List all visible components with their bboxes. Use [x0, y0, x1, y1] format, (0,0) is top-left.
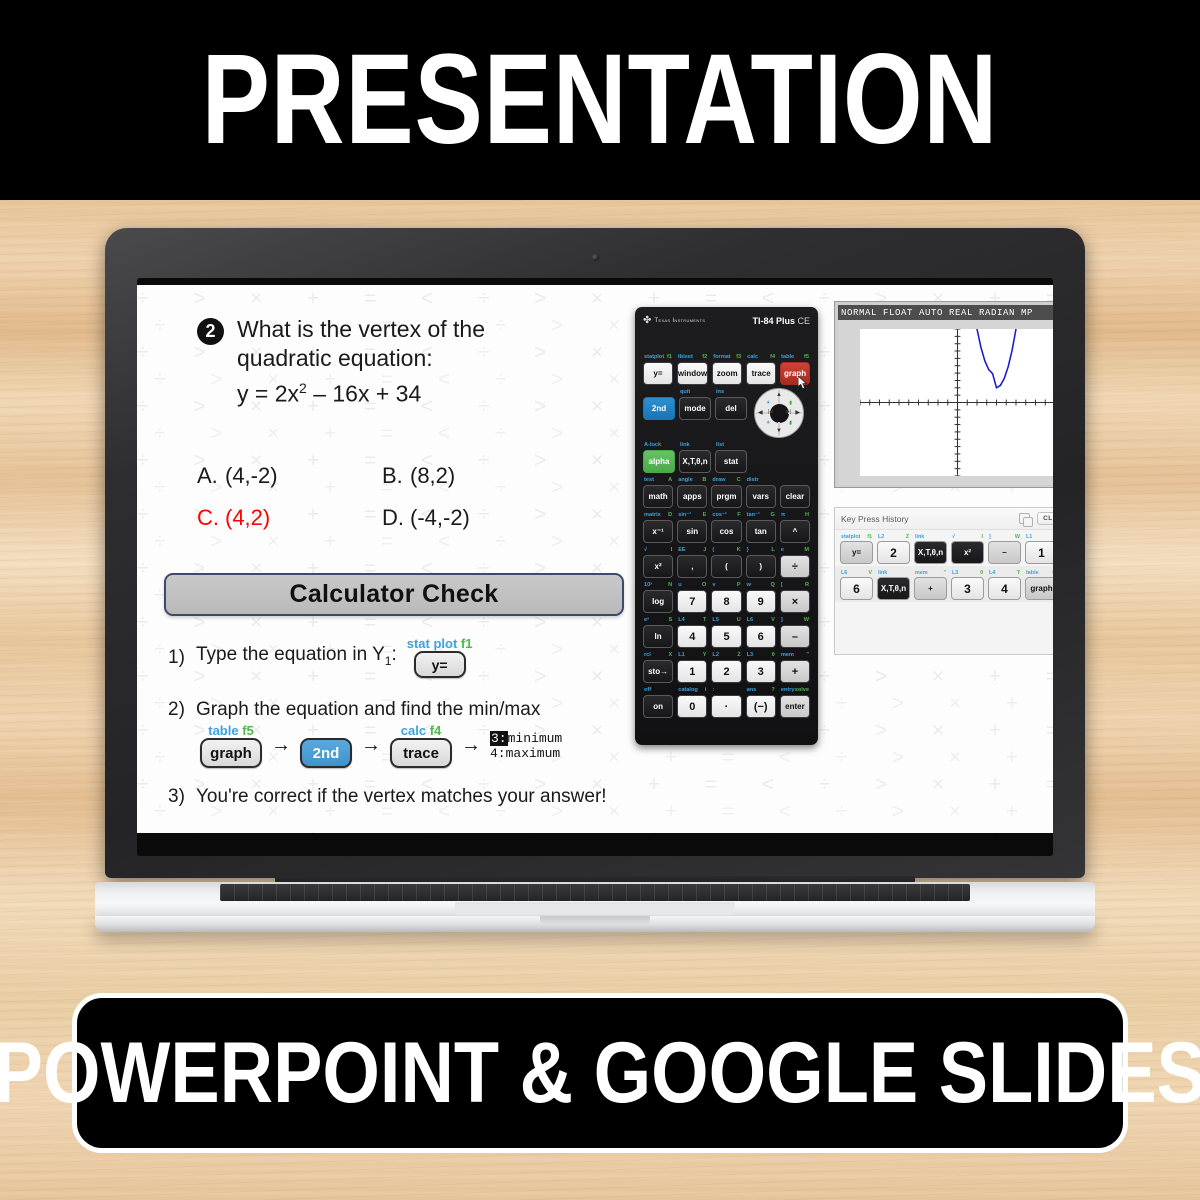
- calculator-key-1[interactable]: 1: [677, 660, 707, 683]
- key-secondary-labels: catalogi: [677, 686, 707, 695]
- calculator-key-cell: eˣSln: [643, 616, 673, 648]
- calculator-key-[interactable]: ,: [677, 555, 707, 578]
- sequence-arrow-1: →: [271, 735, 291, 757]
- calculator-key-cell: testAmath: [643, 476, 673, 508]
- calculator-key-cell: liststat: [715, 441, 747, 473]
- calculator-key-x[interactable]: x²: [643, 555, 673, 578]
- history-key-3[interactable]: 3: [951, 577, 984, 600]
- calculator-key-trace[interactable]: trace: [746, 362, 776, 385]
- calculator-key-y[interactable]: y=: [643, 362, 673, 385]
- key-second-label: [: [781, 581, 783, 590]
- step-2-graph-key[interactable]: graph: [200, 738, 262, 768]
- dpad-up-arrow-icon[interactable]: ▲: [776, 392, 782, 398]
- key-second-label: ans: [747, 686, 757, 695]
- calculator-key-0[interactable]: 0: [677, 695, 707, 718]
- history-alpha-label: ": [943, 569, 946, 577]
- key-second-label: sin⁻¹: [678, 511, 691, 520]
- key-alpha-label: H: [805, 511, 809, 520]
- key-alpha-label: C: [737, 476, 741, 485]
- top-banner: PRESENTATION: [0, 0, 1200, 200]
- calculator-key-cell: angleBapps: [677, 476, 707, 508]
- history-key-[interactable]: +: [914, 577, 947, 600]
- graph-status-bar: NORMAL FLOAT AUTO REAL RADIAN MP: [838, 305, 1053, 320]
- key-alpha-label: f4: [770, 353, 775, 362]
- history-row: L6V6linkX,T,θ,nmem"+L3θ3L4T4tablef5graph: [835, 566, 1053, 602]
- history-key-cell: L3θ3: [951, 569, 984, 600]
- history-second-label: mem: [915, 569, 928, 577]
- history-key-labels: L2Z: [877, 533, 910, 541]
- history-second-label: ]: [989, 533, 991, 541]
- question-block: 2 What is the vertex of the quadratic eq…: [197, 315, 617, 409]
- calculator-key-row: √Ix²EEJ,(K(}L)eM÷: [643, 546, 810, 578]
- key-secondary-labels: L2Z: [711, 651, 741, 660]
- history-key-2[interactable]: 2: [877, 541, 910, 564]
- history-alpha-label: Z: [906, 533, 909, 541]
- key-secondary-labels: quit: [679, 388, 711, 397]
- key-alpha-label: solve: [795, 686, 809, 695]
- key-alpha-label: N: [668, 581, 672, 590]
- history-key-cell: L6V6: [840, 569, 873, 600]
- answer-choice-c[interactable]: C.(4,2): [197, 505, 382, 531]
- question-line-1: What is the vertex of the: [237, 315, 485, 344]
- calculator-key-row: 10ˣNloguO7vP8wQ9[R×: [643, 581, 810, 613]
- copy-icon[interactable]: [1019, 513, 1030, 524]
- contrast-up-icon: ▮: [789, 400, 792, 406]
- key-secondary-labels: drawC: [711, 476, 741, 485]
- history-key-4[interactable]: 4: [988, 577, 1021, 600]
- bottom-banner: POWERPOINT & GOOGLE SLIDES: [72, 993, 1128, 1153]
- key-second-label: L4: [678, 616, 685, 625]
- calculator-key-cell: ans?(−): [746, 686, 776, 718]
- key-press-history-title: Key Press History: [841, 514, 909, 524]
- brightness-up-icon: ☀: [766, 400, 770, 406]
- key-secondary-labels: angleB: [677, 476, 707, 485]
- key-second-label: off: [644, 686, 651, 695]
- calculator-key-zoom[interactable]: zoom: [712, 362, 742, 385]
- key-second-label: L5: [712, 616, 719, 625]
- calculator-key-row: testAmathangleBappsdrawCprgmdistrvarscle…: [643, 476, 810, 508]
- calculator-key-xtn[interactable]: X,T,θ,n: [679, 450, 711, 473]
- calculator-key-cell: wQ9: [746, 581, 776, 613]
- laptop-mockup: ÷ > × + = < ÷ > × + = < ÷ > × + = < ÷ > …: [95, 228, 1095, 928]
- dpad-down-arrow-icon[interactable]: ▼: [776, 428, 782, 434]
- calculator-key-cell: rclXsto→: [643, 651, 673, 683]
- clear-history-button[interactable]: CLEAR: [1037, 512, 1053, 525]
- key-secondary-labels: [R: [780, 581, 810, 590]
- bottom-banner-title: POWERPOINT & GOOGLE SLIDES: [0, 1030, 1200, 1116]
- calculator-key-[interactable]: ·: [711, 695, 741, 718]
- key-alpha-label: U: [737, 616, 741, 625]
- history-second-label: L4: [989, 569, 995, 577]
- key-alpha-label: ?: [771, 686, 774, 695]
- key-alpha-label: E: [703, 511, 707, 520]
- history-key-xtn[interactable]: X,T,θ,n: [914, 541, 947, 564]
- calculator-key-cos[interactable]: cos: [711, 520, 741, 543]
- calculator-key-[interactable]: (: [711, 555, 741, 578]
- key-secondary-labels: link: [679, 441, 711, 450]
- calculator-key-clear[interactable]: clear: [780, 485, 810, 508]
- answer-choice-b[interactable]: B.(8,2): [382, 463, 567, 489]
- calculator-key-x[interactable]: x⁻¹: [643, 520, 673, 543]
- calculator-key-7[interactable]: 7: [677, 590, 707, 613]
- key-secondary-labels: tan⁻¹G: [746, 511, 776, 520]
- history-key-cell: statplotf1y=: [840, 533, 873, 564]
- history-key-x[interactable]: x²: [951, 541, 984, 564]
- contrast-down-icon: ▮: [789, 420, 792, 426]
- calculator-key-cell: vP8: [711, 581, 741, 613]
- calculator-key-6[interactable]: 6: [746, 625, 776, 648]
- calculator-key-[interactable]: ÷: [780, 555, 810, 578]
- key-alpha-label: Y: [703, 651, 707, 660]
- history-key-y[interactable]: y=: [840, 541, 873, 564]
- key-secondary-labels: EEJ: [677, 546, 707, 555]
- key-alpha-label: f1: [667, 353, 672, 362]
- calculator-key-cell: 10ˣNlog: [643, 581, 673, 613]
- calculator-key-[interactable]: +: [780, 660, 810, 683]
- history-key-labels: link: [914, 533, 947, 541]
- key-press-history-panel: Key Press History CLEAR statplotf1y=L2Z2…: [834, 507, 1053, 655]
- calculator-key-cell: L6V6: [746, 616, 776, 648]
- history-key-1[interactable]: 1: [1025, 541, 1053, 564]
- history-second-label: L6: [841, 569, 847, 577]
- key-second-label: L6: [747, 616, 754, 625]
- calculator-key-2nd[interactable]: 2nd: [643, 397, 675, 420]
- sequence-arrow-3: →: [461, 735, 481, 757]
- key-secondary-labels: L1Y: [677, 651, 707, 660]
- calculator-key-cell: [R×: [780, 581, 810, 613]
- history-key-xtn[interactable]: X,T,θ,n: [877, 577, 910, 600]
- history-second-label: link: [915, 533, 924, 541]
- key-secondary-labels: entrysolve: [780, 686, 810, 695]
- calculator-key-cell: (K(: [711, 546, 741, 578]
- dpad-prev-icon: |◀: [768, 409, 773, 415]
- step-3-text: You're correct if the vertex matches you…: [196, 785, 607, 809]
- calculator-key-apps[interactable]: apps: [677, 485, 707, 508]
- trace-key-secondary-label: calc f4: [401, 724, 442, 738]
- key-second-label: }: [747, 546, 749, 555]
- key-alpha-label: J: [703, 546, 706, 555]
- calculator-key-cell: drawCprgm: [711, 476, 741, 508]
- calculator-key-vars[interactable]: vars: [746, 485, 776, 508]
- calculator-keypad: statplotf1y=tblsetf2windowformatf3zoomca…: [643, 353, 810, 718]
- key-alpha-label: R: [805, 581, 809, 590]
- step-3-number: 3): [164, 785, 196, 809]
- key-second-label: e: [781, 546, 784, 555]
- calculator-key-mode[interactable]: mode: [679, 397, 711, 420]
- key-secondary-labels: cos⁻¹F: [711, 511, 741, 520]
- key-alpha-label: f5: [804, 353, 809, 362]
- key-second-label: draw: [712, 476, 725, 485]
- calculator-key-cell: distrvars: [746, 476, 776, 508]
- history-second-label: √: [952, 533, 955, 541]
- history-second-label: L1: [1026, 533, 1032, 541]
- calculator-key-cell: cos⁻¹Fcos: [711, 511, 741, 543]
- question-equation: y = 2x2 – 16x + 34: [237, 374, 485, 409]
- key-second-label: statplot: [644, 353, 664, 362]
- laptop-keyboard: [220, 884, 970, 901]
- laptop-base: [95, 876, 1095, 936]
- parabola-graph-svg: [860, 329, 1053, 476]
- calculator-key-cell: tan⁻¹Gtan: [746, 511, 776, 543]
- key-alpha-label: f3: [736, 353, 741, 362]
- presentation-slide: ÷ > × + = < ÷ > × + = < ÷ > × + = < ÷ > …: [137, 285, 1053, 833]
- key-secondary-labels: distr: [746, 476, 776, 485]
- calculator-key-5[interactable]: 5: [711, 625, 741, 648]
- calculator-check-section: Calculator Check 1) Type the equation in…: [164, 573, 624, 809]
- key-second-label: w: [747, 581, 751, 590]
- calculator-key-stat[interactable]: stat: [715, 450, 747, 473]
- key-second-label: list: [716, 441, 724, 450]
- top-banner-title: PRESENTATION: [202, 36, 999, 164]
- key-alpha-label: I: [671, 546, 673, 555]
- key-alpha-label: W: [804, 616, 809, 625]
- calculator-key-8[interactable]: 8: [711, 590, 741, 613]
- history-key-labels: ]W: [988, 533, 1021, 541]
- key-secondary-labels: [643, 388, 675, 397]
- key-secondary-labels: statplotf1: [643, 353, 673, 362]
- history-key-labels: link: [877, 569, 910, 577]
- key-alpha-label: P: [737, 581, 741, 590]
- history-second-label: statplot: [841, 533, 860, 541]
- calculator-key-window[interactable]: window: [677, 362, 708, 385]
- calculator-key-cell: L1Y1: [677, 651, 707, 683]
- key-second-label: format: [713, 353, 730, 362]
- answer-choice-a[interactable]: A.(4,-2): [197, 463, 382, 489]
- calculator-key-sin[interactable]: sin: [677, 520, 707, 543]
- laptop-screen: ÷ > × + = < ÷ > × + = < ÷ > × + = < ÷ > …: [137, 278, 1053, 856]
- key-second-label: entry: [781, 686, 795, 695]
- key-alpha-label: i: [705, 686, 707, 695]
- answer-choice-d[interactable]: D.(-4,-2): [382, 505, 567, 531]
- question-line-2: quadratic equation:: [237, 344, 485, 373]
- key-secondary-labels: off: [643, 686, 673, 695]
- calculator-key-cell: quitmode: [679, 388, 711, 438]
- calculator-key-cell: L2Z2: [711, 651, 741, 683]
- calculator-key-del[interactable]: del: [715, 397, 747, 420]
- key-second-label: u: [678, 581, 681, 590]
- history-second-label: L2: [878, 533, 884, 541]
- step-1-number: 1): [164, 646, 196, 670]
- calculator-brand-row: ✤ Texas Instruments TI-84 Plus CE: [643, 314, 810, 327]
- calculator-key-cell: clear: [780, 476, 810, 508]
- key-secondary-labels: sin⁻¹E: [677, 511, 707, 520]
- key-secondary-labels: L4T: [677, 616, 707, 625]
- question-number-badge: 2: [197, 318, 224, 345]
- key-second-label: table: [781, 353, 794, 362]
- history-key-cell: √Ix²: [951, 533, 984, 564]
- key-second-label: √: [644, 546, 647, 555]
- calculator-key-cell: mem"+: [780, 651, 810, 683]
- calculator-key-row: 2ndquitmodeinsdel▲▼◀▶☀▮☀▮|◀▶|: [643, 388, 810, 438]
- key-second-label: A-lock: [644, 441, 661, 450]
- calculator-key-alpha[interactable]: alpha: [643, 450, 675, 473]
- history-key-labels: statplotf1: [840, 533, 873, 541]
- key-secondary-labels: calcf4: [746, 353, 776, 362]
- key-second-label: L1: [678, 651, 685, 660]
- key-alpha-label: V: [771, 616, 775, 625]
- history-alpha-label: f1: [867, 533, 872, 541]
- key-secondary-labels: eM: [780, 546, 810, 555]
- calculator-key-log[interactable]: log: [643, 590, 673, 613]
- calculator-key-[interactable]: ): [746, 555, 776, 578]
- history-key-graph[interactable]: graph: [1025, 577, 1053, 600]
- ti84-calculator: ✤ Texas Instruments TI-84 Plus CE statpl…: [635, 307, 818, 745]
- key-secondary-labels: ]W: [780, 616, 810, 625]
- graph-canvas: [860, 329, 1053, 476]
- key-secondary-labels: formatf3: [712, 353, 742, 362]
- key-secondary-labels: √I: [643, 546, 673, 555]
- key-second-label: (: [712, 546, 714, 555]
- key-secondary-labels: }L: [746, 546, 776, 555]
- key-alpha-label: ": [806, 651, 809, 660]
- dpad-right-arrow-icon[interactable]: ▶: [795, 409, 800, 416]
- key-second-label: π: [781, 511, 785, 520]
- calculator-key-cell: L4T4: [677, 616, 707, 648]
- calculator-key-row: statplotf1y=tblsetf2windowformatf3zoomca…: [643, 353, 810, 385]
- calculator-key-cell: linkX,T,θ,n: [679, 441, 711, 473]
- ti-brand-name: Texas Instruments: [654, 317, 705, 324]
- key-second-label: distr: [747, 476, 759, 485]
- calculator-key-4[interactable]: 4: [677, 625, 707, 648]
- graph-plot-area: [838, 320, 1053, 485]
- history-key-cell: linkX,T,θ,n: [914, 533, 947, 564]
- key-second-label: ]: [781, 616, 783, 625]
- calculator-key-[interactable]: ^: [780, 520, 810, 543]
- history-key-labels: √I: [951, 533, 984, 541]
- history-alpha-label: V: [868, 569, 872, 577]
- calculator-key-cell: calcf4trace: [746, 353, 776, 385]
- calculator-key-cell: L5U5: [711, 616, 741, 648]
- step-2-second-key[interactable]: 2nd: [300, 738, 352, 768]
- calculator-key-[interactable]: –: [780, 625, 810, 648]
- calculator-key-[interactable]: ×: [780, 590, 810, 613]
- calculator-dpad[interactable]: ▲▼◀▶☀▮☀▮|◀▶|: [754, 388, 804, 438]
- key-second-label: link: [680, 441, 690, 450]
- calculator-key-cell: ]W–: [780, 616, 810, 648]
- calculator-key-row: matrixDx⁻¹sin⁻¹Esincos⁻¹Fcostan⁻¹GtanπH^: [643, 511, 810, 543]
- calculator-key-cell: :·: [711, 686, 741, 718]
- calculator-key-row: eˣSlnL4T4L5U5L6V6]W–: [643, 616, 810, 648]
- key-second-label: catalog: [678, 686, 698, 695]
- calculator-key-cell: tblsetf2window: [677, 353, 708, 385]
- key-secondary-labels: uO: [677, 581, 707, 590]
- history-second-label: link: [878, 569, 887, 577]
- calculator-key-cell: 2nd: [643, 388, 675, 438]
- key-secondary-labels: 10ˣN: [643, 581, 673, 590]
- key-secondary-labels: mem": [780, 651, 810, 660]
- step-2-number: 2): [164, 698, 196, 722]
- history-key-cell: linkX,T,θ,n: [877, 569, 910, 600]
- history-key-6[interactable]: 6: [840, 577, 873, 600]
- key-second-label: angle: [678, 476, 693, 485]
- calc-check-step-1: 1) Type the equation in Y1: stat plot f1…: [164, 637, 624, 678]
- key-second-label: cos⁻¹: [712, 511, 726, 520]
- key-secondary-labels: tablef5: [780, 353, 810, 362]
- key-secondary-labels: tblsetf2: [677, 353, 708, 362]
- calculator-key-2[interactable]: 2: [711, 660, 741, 683]
- calculator-key-cell: }L): [746, 546, 776, 578]
- key-second-label: quit: [680, 388, 690, 397]
- calculator-key-graph[interactable]: graph: [780, 362, 810, 385]
- step-1-yequals-key[interactable]: y=: [414, 651, 466, 678]
- key-alpha-label: L: [771, 546, 774, 555]
- history-key-cell: L4T4: [988, 569, 1021, 600]
- calculator-key-prgm[interactable]: prgm: [711, 485, 741, 508]
- key-second-label: rcl: [644, 651, 651, 660]
- step-2-text: Graph the equation and find the min/max: [196, 698, 540, 722]
- calculator-key-cell: A-lockalpha: [643, 441, 675, 473]
- calculator-key-sto[interactable]: sto→: [643, 660, 673, 683]
- history-key-labels: L6V: [840, 569, 873, 577]
- key-secondary-labels: [780, 476, 810, 485]
- calculator-key-tan[interactable]: tan: [746, 520, 776, 543]
- key-alpha-label: K: [737, 546, 741, 555]
- key-second-label: v: [712, 581, 715, 590]
- calculator-key-cell: formatf3zoom: [712, 353, 742, 385]
- key-second-label: mem: [781, 651, 794, 660]
- calculator-key-on[interactable]: on: [643, 695, 673, 718]
- key-alpha-label: B: [702, 476, 706, 485]
- history-key-labels: mem": [914, 569, 947, 577]
- key-press-history-rows: statplotf1y=L2Z2linkX,T,θ,n√Ix²]W–L1Y1L6…: [835, 530, 1053, 602]
- key-secondary-labels: eˣS: [643, 616, 673, 625]
- key-secondary-labels: ins: [715, 388, 747, 397]
- calculator-key-math[interactable]: math: [643, 485, 673, 508]
- calculator-key-cell: entrysolveenter: [780, 686, 810, 718]
- calculator-check-title-box: Calculator Check: [164, 573, 624, 616]
- key-alpha-label: Z: [737, 651, 740, 660]
- step-2-trace-key[interactable]: trace: [390, 738, 452, 768]
- calculator-key-cell: insdel: [715, 388, 747, 438]
- calculator-key-[interactable]: (−): [746, 695, 776, 718]
- key-alpha-label: f2: [702, 353, 707, 362]
- key-secondary-labels: πH: [780, 511, 810, 520]
- key-alpha-label: F: [737, 511, 740, 520]
- calculator-key-9[interactable]: 9: [746, 590, 776, 613]
- key-press-history-header: Key Press History CLEAR: [835, 508, 1053, 530]
- laptop-front-notch: [540, 916, 650, 925]
- calculator-key-ln[interactable]: ln: [643, 625, 673, 648]
- key-alpha-label: O: [702, 581, 706, 590]
- calculator-key-cell: catalogi0: [677, 686, 707, 718]
- history-key-[interactable]: –: [988, 541, 1021, 564]
- calculator-key-row: rclXsto→L1Y1L2Z2L3θ3mem"+: [643, 651, 810, 683]
- history-second-label: L3: [952, 569, 958, 577]
- history-second-label: table: [1026, 569, 1039, 577]
- calculator-model: TI-84 Plus CE: [752, 316, 810, 326]
- graph-key-secondary-label: table f5: [208, 724, 254, 738]
- calculator-key-enter[interactable]: enter: [780, 695, 810, 718]
- texas-instruments-logo: ✤ Texas Instruments: [643, 316, 705, 326]
- history-alpha-label: I: [982, 533, 984, 541]
- ti-logo-icon: ✤: [643, 316, 651, 326]
- key-secondary-labels: ans?: [746, 686, 776, 695]
- key-second-label: EE: [678, 546, 685, 555]
- calc-check-step-2: 2) Graph the equation and find the min/m…: [164, 698, 624, 722]
- step-1-key-secondary-label: stat plot f1: [407, 637, 473, 651]
- history-key-cell: L2Z2: [877, 533, 910, 564]
- calculator-key-cell: matrixDx⁻¹: [643, 511, 673, 543]
- dpad-left-arrow-icon[interactable]: ◀: [758, 409, 763, 416]
- minmax-menu-text: 3:minimum 4:maximum: [490, 731, 562, 762]
- key-secondary-labels: (K: [711, 546, 741, 555]
- calculator-key-cell: eM÷: [780, 546, 810, 578]
- dpad-next-icon: ▶|: [786, 409, 791, 415]
- key-secondary-labels: matrixD: [643, 511, 673, 520]
- key-alpha-label: T: [703, 616, 706, 625]
- calculator-key-3[interactable]: 3: [746, 660, 776, 683]
- webcam-icon: [592, 254, 599, 261]
